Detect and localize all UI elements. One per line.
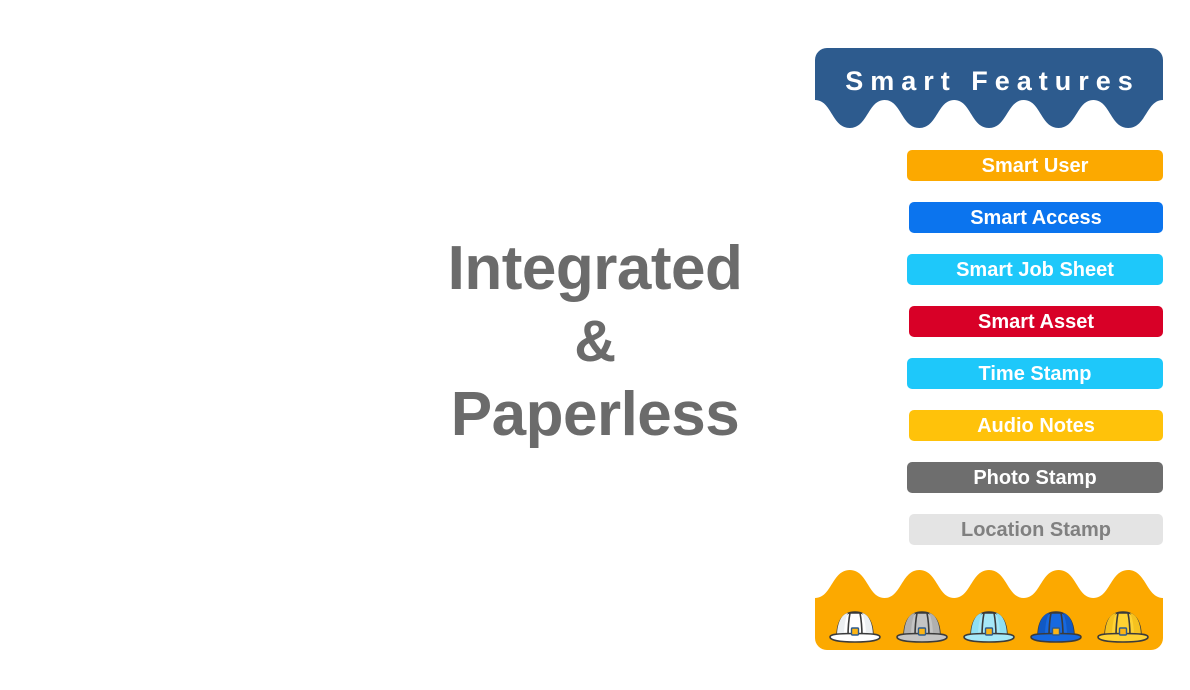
badge-time-stamp[interactable]: Time Stamp: [907, 358, 1163, 389]
badge-row: Smart Job Sheet: [815, 254, 1163, 306]
smart-features-panel: Smart Features Smart UserSmart AccessSma…: [815, 48, 1163, 650]
badge-label: Location Stamp: [961, 520, 1111, 540]
badge-label: Time Stamp: [979, 364, 1092, 384]
badge-row: Location Stamp: [815, 514, 1163, 566]
badge-location-stamp[interactable]: Location Stamp: [909, 514, 1163, 545]
hard-hat-cyan-icon: [960, 604, 1018, 648]
badge-smart-job-sheet[interactable]: Smart Job Sheet: [907, 254, 1163, 285]
badge-row: Audio Notes: [815, 410, 1163, 462]
headline-line-1: Integrated: [350, 232, 840, 305]
badge-label: Smart Asset: [978, 312, 1094, 332]
badge-label: Photo Stamp: [973, 468, 1096, 488]
hard-hat-gray-icon: [893, 604, 951, 648]
badge-row: Smart User: [815, 150, 1163, 202]
badge-audio-notes[interactable]: Audio Notes: [909, 410, 1163, 441]
badge-label: Audio Notes: [977, 416, 1095, 436]
hard-hat-white-icon: [826, 604, 884, 648]
panel-header: Smart Features: [815, 48, 1163, 128]
badge-label: Smart User: [982, 156, 1089, 176]
badge-label: Smart Job Sheet: [956, 260, 1114, 280]
page-headline: Integrated & Paperless: [350, 232, 840, 451]
hard-hat-row: [815, 604, 1163, 648]
badge-photo-stamp[interactable]: Photo Stamp: [907, 462, 1163, 493]
badge-smart-access[interactable]: Smart Access: [909, 202, 1163, 233]
badge-label: Smart Access: [970, 208, 1102, 228]
badge-row: Time Stamp: [815, 358, 1163, 410]
badge-row: Photo Stamp: [815, 462, 1163, 514]
hard-hat-blue-icon: [1027, 604, 1085, 648]
hard-hat-yellow-icon: [1094, 604, 1152, 648]
badge-row: Smart Access: [815, 202, 1163, 254]
badge-row: Smart Asset: [815, 306, 1163, 358]
headline-line-2: &: [350, 305, 840, 378]
panel-footer: [815, 570, 1163, 650]
badge-smart-asset[interactable]: Smart Asset: [909, 306, 1163, 337]
panel-header-title: Smart Features: [815, 66, 1163, 97]
badge-smart-user[interactable]: Smart User: [907, 150, 1163, 181]
smart-features-badge-list: Smart UserSmart AccessSmart Job SheetSma…: [815, 150, 1163, 566]
headline-line-3: Paperless: [350, 378, 840, 451]
